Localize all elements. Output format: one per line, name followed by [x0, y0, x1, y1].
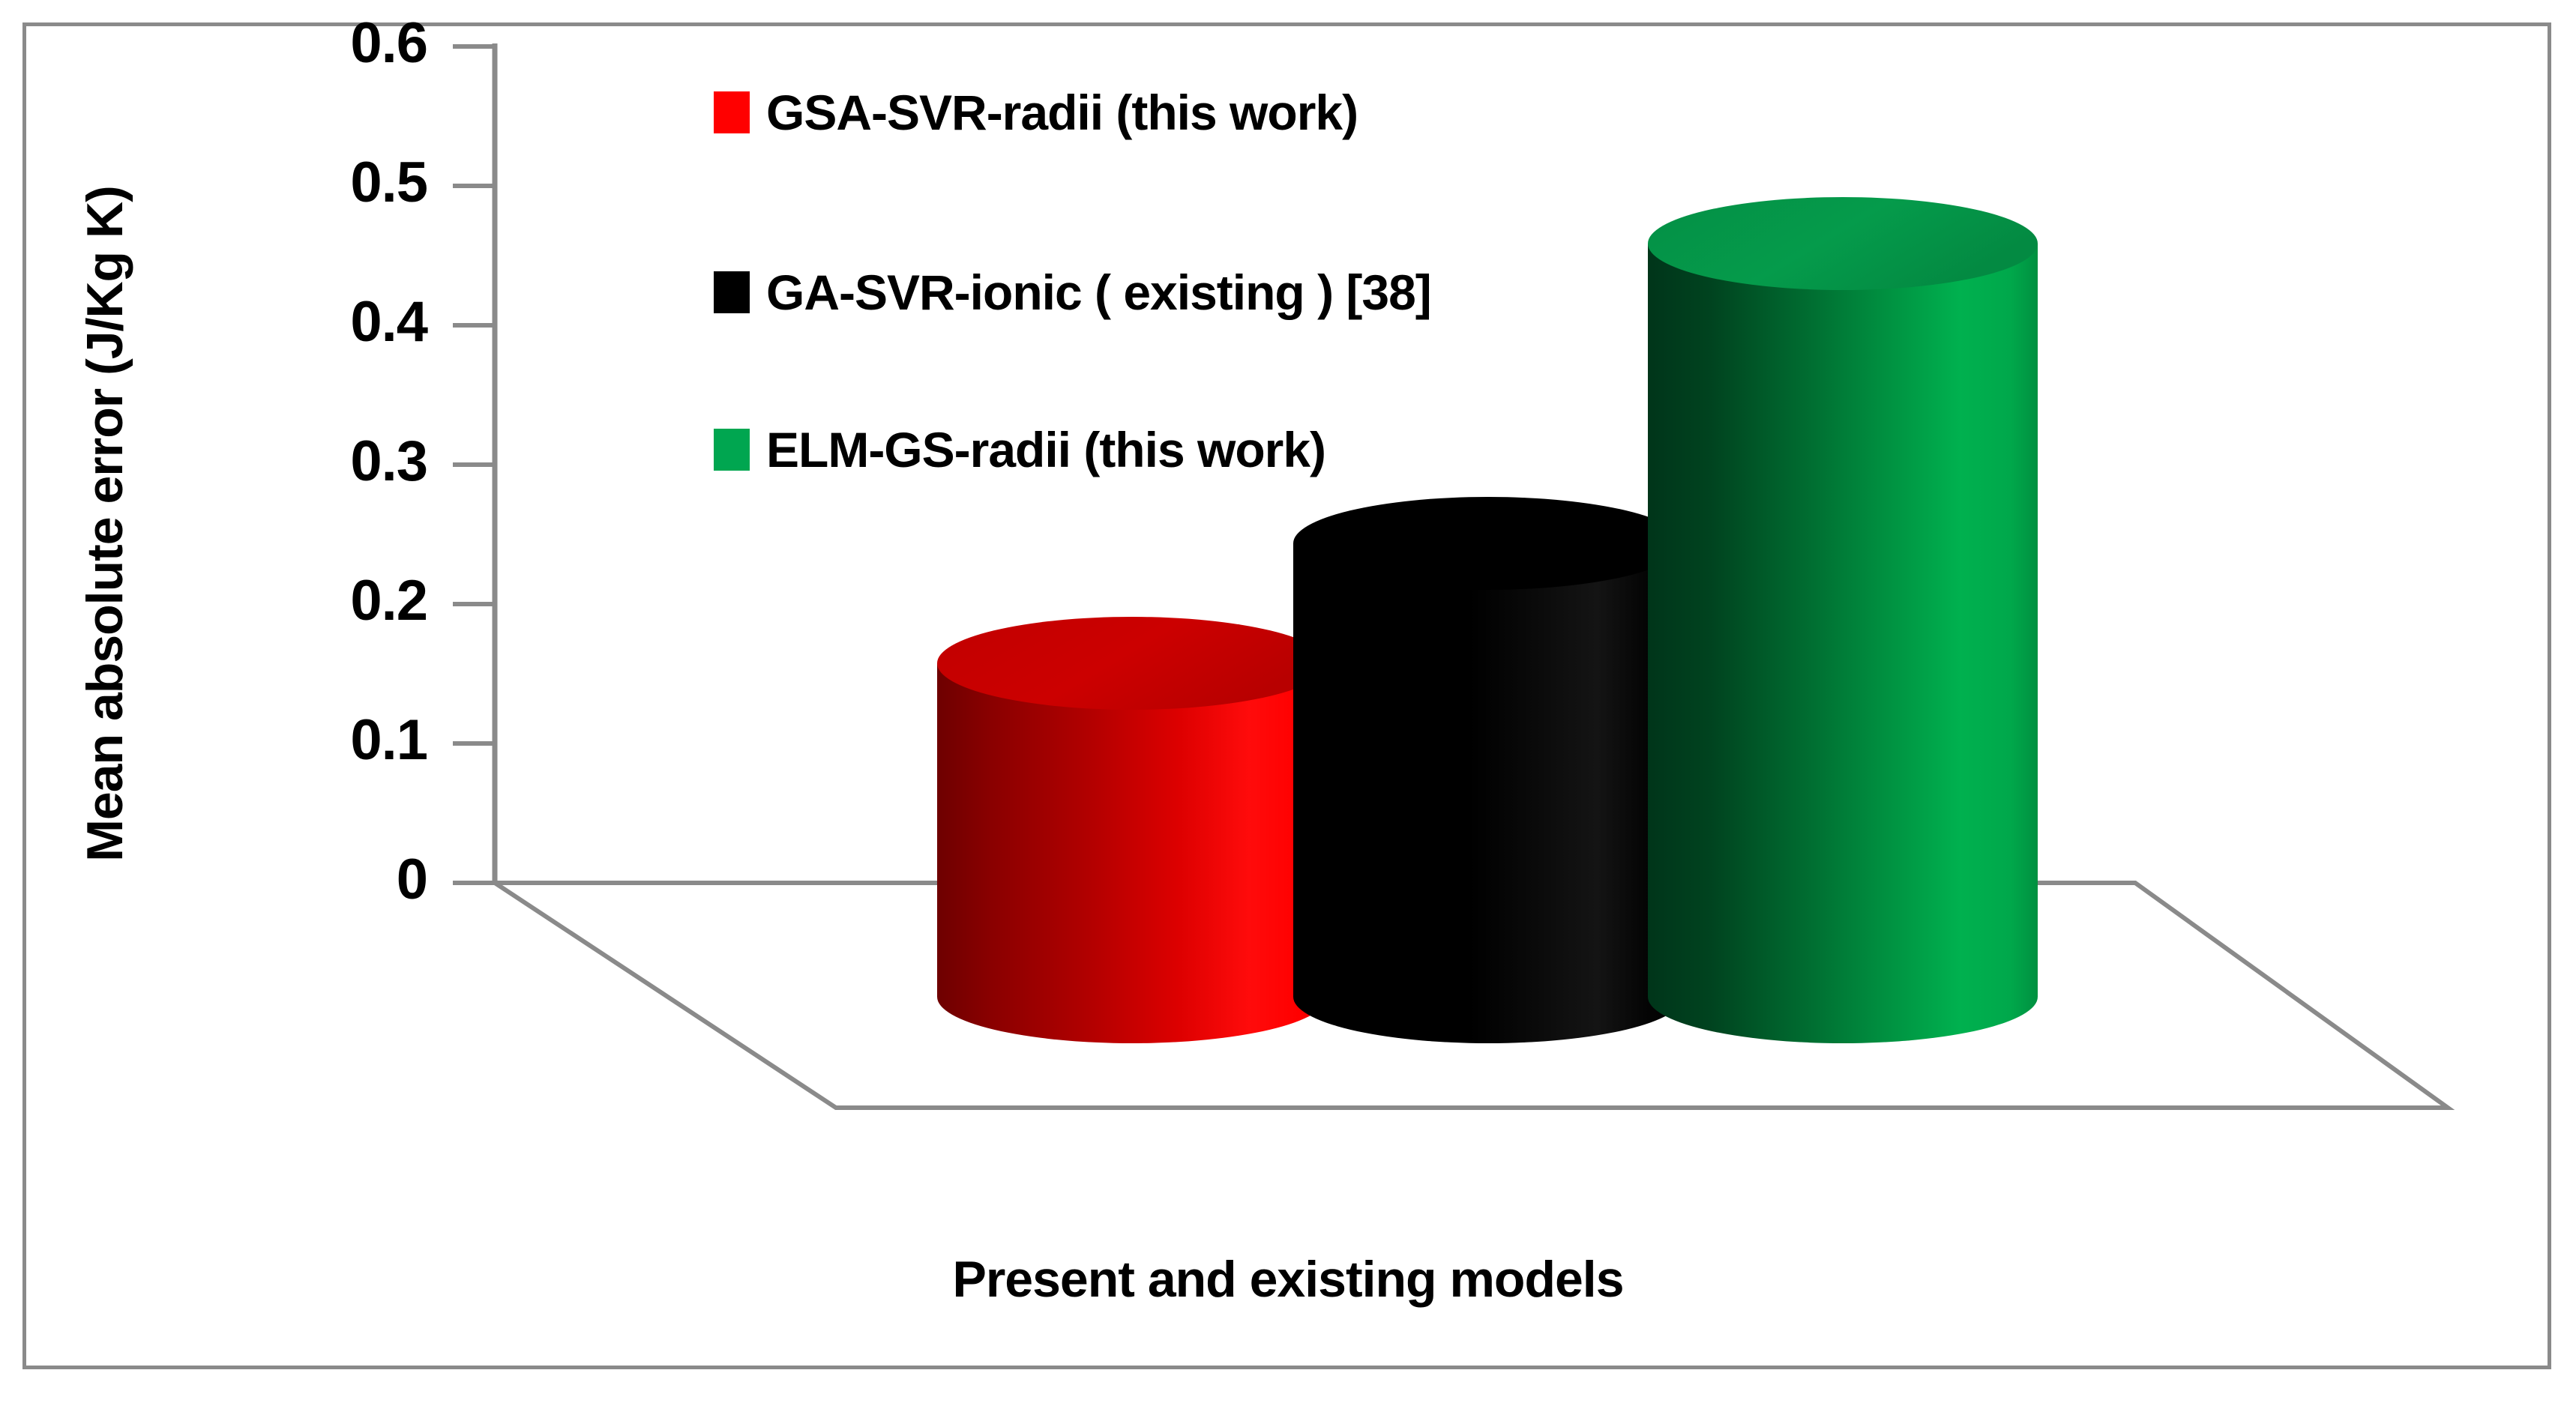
bar-cylinder-ga-svr-ionic	[1293, 497, 1683, 1043]
y-tick-label-0.3: 0.3	[232, 433, 427, 490]
bar-cylinder-gsa-svr-radii	[937, 617, 1327, 1043]
y-axis-title: Mean absolute error (J/Kg K)	[76, 149, 134, 899]
legend-swatch-red	[714, 91, 750, 133]
y-axis	[453, 43, 495, 883]
legend-swatch-green	[714, 429, 750, 471]
legend-label-gsa-svr-radii: GSA-SVR-radii (this work)	[766, 84, 1358, 141]
legend-swatch-black	[714, 271, 750, 313]
x-axis-title: Present and existing models	[0, 1250, 2576, 1309]
y-tick-label-0: 0	[232, 851, 427, 908]
y-tick-label-0.1: 0.1	[232, 712, 427, 769]
y-tick-label-0.2: 0.2	[232, 573, 427, 630]
y-tick-label-0.6: 0.6	[232, 15, 427, 72]
bar-cylinder-elm-gs-radii	[1648, 197, 2038, 1043]
y-tick-label-0.4: 0.4	[232, 294, 427, 351]
y-tick-label-0.5: 0.5	[232, 154, 427, 211]
legend-item-gsa-svr-radii[interactable]: GSA-SVR-radii (this work)	[714, 84, 1358, 141]
legend-item-ga-svr-ionic[interactable]: GA-SVR-ionic ( existing ) [38]	[714, 264, 1431, 321]
legend-item-elm-gs-radii[interactable]: ELM-GS-radii (this work)	[714, 421, 1325, 478]
legend-label-ga-svr-ionic: GA-SVR-ionic ( existing ) [38]	[766, 264, 1431, 321]
legend-label-elm-gs-radii: ELM-GS-radii (this work)	[766, 421, 1325, 478]
